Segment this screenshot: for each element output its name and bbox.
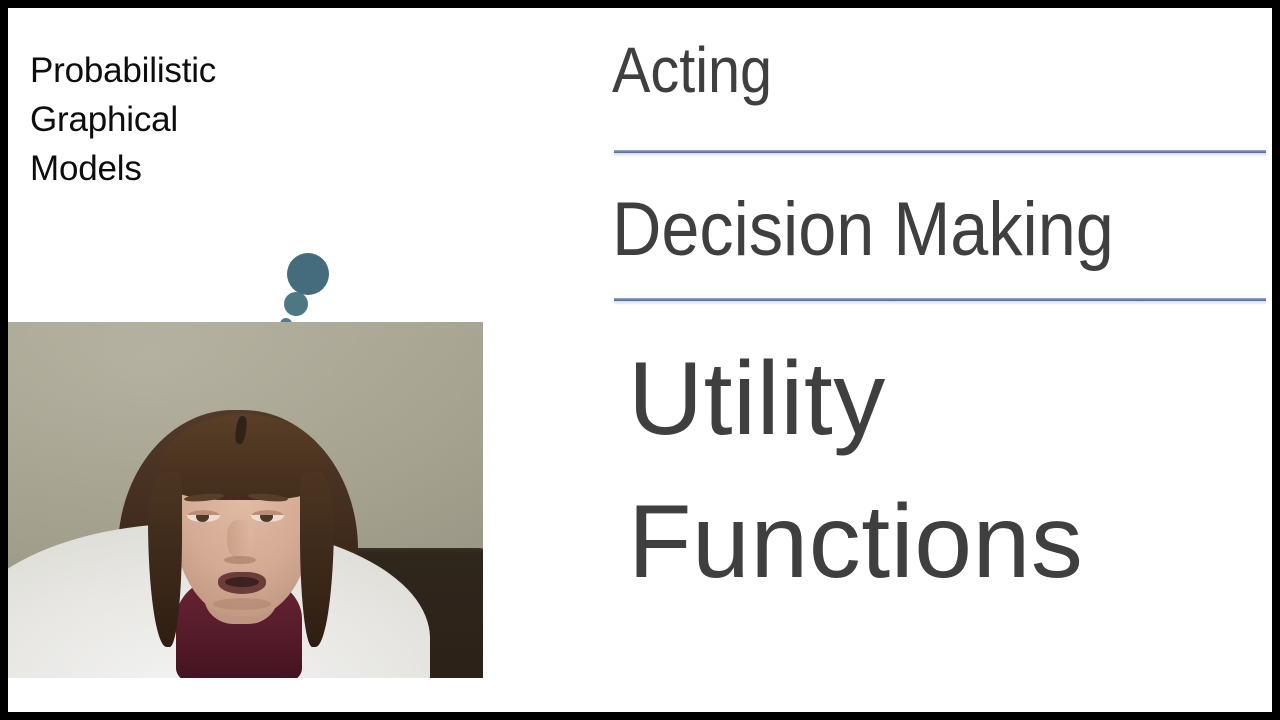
mouth-opening xyxy=(225,577,259,587)
cloud-body xyxy=(230,22,560,334)
nose-shadow xyxy=(224,556,256,564)
nose xyxy=(227,520,253,560)
eye-right xyxy=(251,510,284,522)
agenda-item-utility: Utility xyxy=(628,340,886,459)
trailing-bubbles xyxy=(280,253,329,330)
chin-shadow xyxy=(213,598,271,610)
agenda-divider-2 xyxy=(614,298,1266,301)
instructor-webcam-video xyxy=(8,322,483,678)
agenda-item-acting: Acting xyxy=(612,33,772,107)
thought-bubble-network-icon xyxy=(230,22,560,334)
agenda-divider-1 xyxy=(614,150,1266,153)
agenda-item-functions: Functions xyxy=(628,483,1083,602)
eye-left xyxy=(187,510,220,522)
agenda-list: Acting Decision Making Utility Functions xyxy=(606,8,1266,712)
agenda-item-decision-making: Decision Making xyxy=(612,186,1114,273)
eyelid-left xyxy=(187,510,220,515)
slide-canvas: Probabilistic Graphical Models xyxy=(8,8,1272,712)
eyelid-right xyxy=(251,510,284,515)
